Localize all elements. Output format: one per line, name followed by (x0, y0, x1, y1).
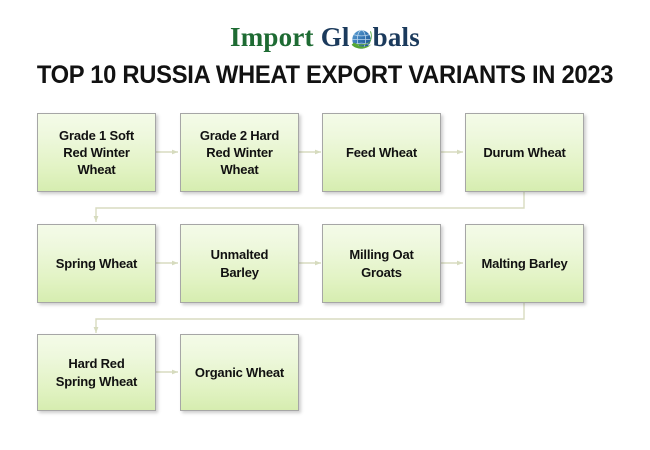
edge-n4-n5 (96, 192, 524, 222)
flow-node-malting-barley[interactable]: Malting Barley (465, 224, 584, 303)
flow-node-hard-red-spring-wheat[interactable]: Hard Red Spring Wheat (37, 334, 156, 411)
flow-node-milling-oat-groats[interactable]: Milling Oat Groats (322, 224, 441, 303)
flow-node-spring-wheat[interactable]: Spring Wheat (37, 224, 156, 303)
flow-node-label: Malting Barley (481, 255, 567, 272)
flow-node-durum-wheat[interactable]: Durum Wheat (465, 113, 584, 192)
flow-node-label: Grade 2 Hard Red Winter Wheat (200, 127, 279, 178)
flow-node-grade-2-hard-red-winter-wheat[interactable]: Grade 2 Hard Red Winter Wheat (180, 113, 299, 192)
flow-node-grade-1-soft-red-winter-wheat[interactable]: Grade 1 Soft Red Winter Wheat (37, 113, 156, 192)
flow-node-label: Spring Wheat (56, 255, 137, 272)
flow-node-label: Milling Oat Groats (349, 246, 413, 280)
edge-n8-n9 (96, 303, 524, 333)
flow-node-label: Grade 1 Soft Red Winter Wheat (59, 127, 134, 178)
flow-node-organic-wheat[interactable]: Organic Wheat (180, 334, 299, 411)
flow-node-feed-wheat[interactable]: Feed Wheat (322, 113, 441, 192)
flow-node-label: Feed Wheat (346, 144, 417, 161)
flowchart: Grade 1 Soft Red Winter Wheat Grade 2 Ha… (0, 0, 650, 450)
flow-node-label: Unmalted Barley (211, 246, 269, 280)
flow-node-label: Organic Wheat (195, 364, 284, 381)
flow-node-label: Durum Wheat (483, 144, 565, 161)
flow-node-label: Hard Red Spring Wheat (56, 355, 137, 389)
flow-node-unmalted-barley[interactable]: Unmalted Barley (180, 224, 299, 303)
